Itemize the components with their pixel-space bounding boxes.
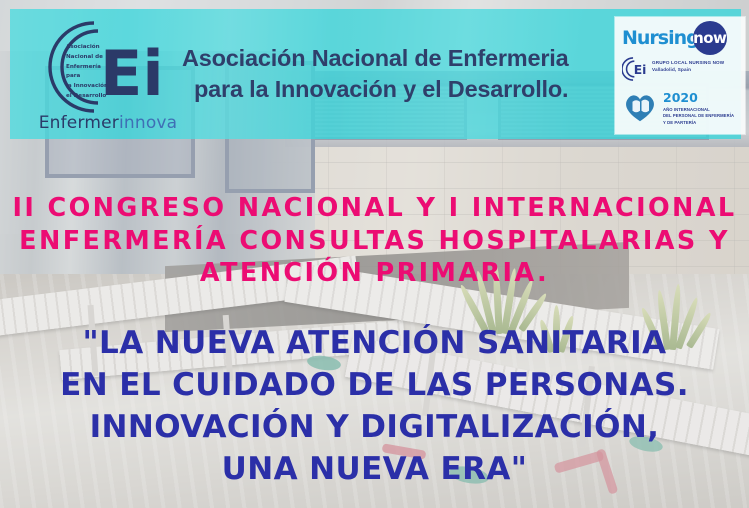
congress-title-line-2: ENFERMERÍA CONSULTAS HOSPITALARIAS Y xyxy=(0,225,749,258)
year-2020-row: 2020 AÑO INTERNACIONAL DEL PERSONAL DE E… xyxy=(622,91,738,126)
svg-text:Ei: Ei xyxy=(634,63,647,77)
now-circle: now xyxy=(693,21,727,55)
slogan-line-2: EN EL CUIDADO DE LAS PERSONAS. xyxy=(0,364,749,406)
year-caption-line-2: DEL PERSONAL DE ENFERMERÍA xyxy=(663,113,734,120)
congress-title-line-3: ATENCIÓN PRIMARIA. xyxy=(0,257,749,290)
logo-wordmark: Enfermerinnova xyxy=(38,113,178,133)
local-group-row: Ei GRUPO LOCAL NURSING NOW Valladolid, S… xyxy=(622,56,738,82)
association-title-line-1: Asociación Nacional de Enfermeria xyxy=(182,43,602,74)
wordmark-part-1: Enfermer xyxy=(39,113,119,133)
nursing-now-logo: Nursing now xyxy=(622,23,738,53)
slogan-line-4: UNA NUEVA ERA" xyxy=(0,448,749,490)
nursing-now-badge: Nursing now Ei GRUPO LOCAL NURSING NOW V… xyxy=(615,17,745,134)
hands-heart-icon xyxy=(622,91,658,123)
year-caption: AÑO INTERNACIONAL DEL PERSONAL DE ENFERM… xyxy=(663,107,734,127)
year-number: 2020 xyxy=(663,92,734,105)
header-banner: Ei Asociación Nacional de Enfermería par… xyxy=(10,9,741,139)
year-caption-line-3: Y DE PARTERÍA xyxy=(663,120,734,127)
association-title-line-2: para la Innovación y el Desarrollo. xyxy=(182,74,602,105)
logo-ring-text: Asociación Nacional de Enfermería para l… xyxy=(66,43,116,102)
congress-slogan: "LA NUEVA ATENCIÓN SANITARIA EN EL CUIDA… xyxy=(0,322,749,491)
congress-title-line-1: II CONGRESO NACIONAL Y I INTERNACIONAL xyxy=(0,192,749,225)
wordmark-part-2: innova xyxy=(119,113,177,133)
group-line-2: Valladolid, Spain xyxy=(652,67,724,74)
year-2020-text: 2020 AÑO INTERNACIONAL DEL PERSONAL DE E… xyxy=(663,91,734,126)
nursing-word: Nursing xyxy=(622,27,699,49)
congress-poster: Ei Asociación Nacional de Enfermería par… xyxy=(0,0,749,508)
local-group-text: GRUPO LOCAL NURSING NOW Valladolid, Spai… xyxy=(652,56,724,74)
group-line-1: GRUPO LOCAL NURSING NOW xyxy=(652,60,724,67)
mini-association-logo-icon: Ei xyxy=(622,56,648,82)
congress-title: II CONGRESO NACIONAL Y I INTERNACIONAL E… xyxy=(0,192,749,290)
association-logo: Ei Asociación Nacional de Enfermería par… xyxy=(28,17,178,137)
slogan-line-3: INNOVACIÓN Y DIGITALIZACIÓN, xyxy=(0,406,749,448)
association-title: Asociación Nacional de Enfermeria para l… xyxy=(182,43,602,105)
slogan-line-1: "LA NUEVA ATENCIÓN SANITARIA xyxy=(0,322,749,364)
